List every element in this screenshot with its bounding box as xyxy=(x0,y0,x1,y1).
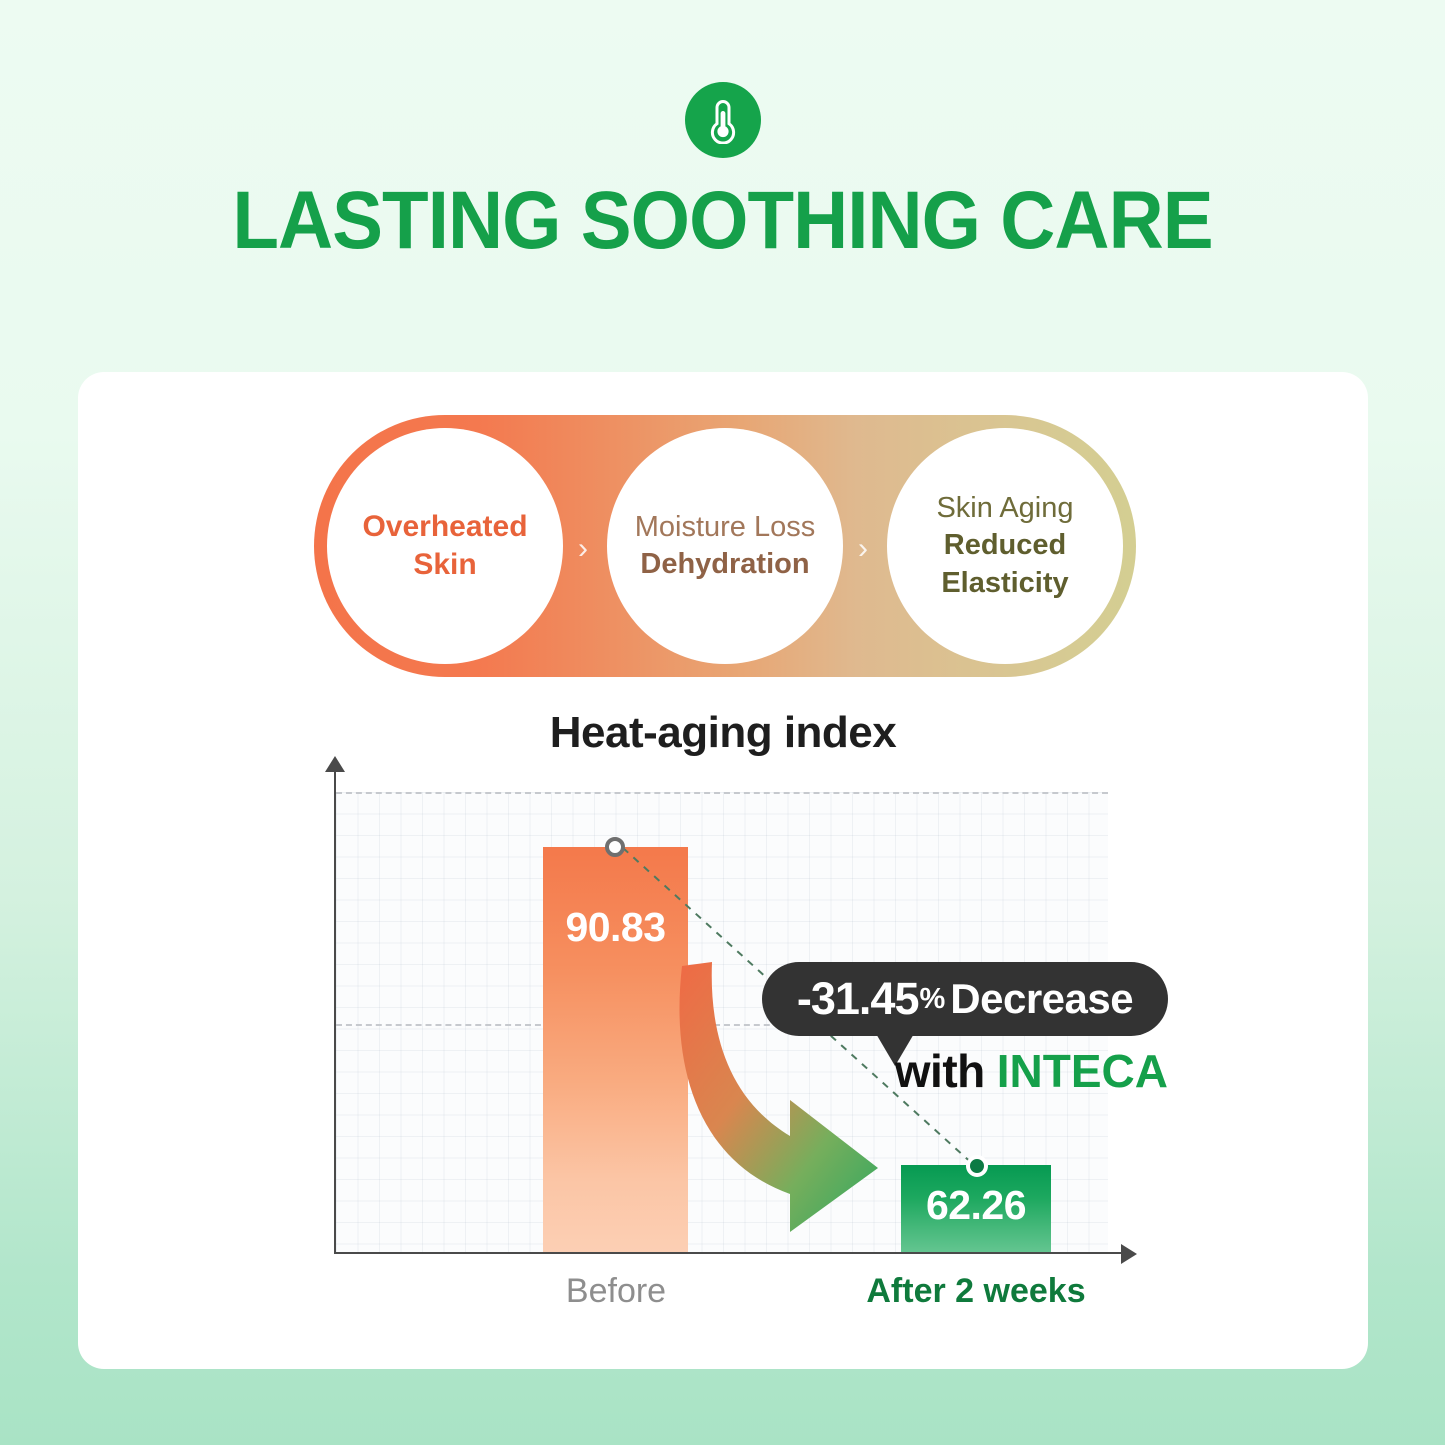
flow-diagram: Overheated Skin › Moisture Loss Dehydrat… xyxy=(314,415,1136,677)
with-label: with xyxy=(895,1045,985,1097)
header: LASTING SOOTHING CARE xyxy=(0,0,1445,262)
heat-aging-index-chart: 90.83 62.26 xyxy=(78,770,1368,1330)
chevron-right-icon-1: › xyxy=(572,534,594,568)
bar-value-after: 62.26 xyxy=(926,1182,1026,1252)
flow-step-overheated-skin: Overheated Skin xyxy=(327,428,563,664)
callout-percent-sign: % xyxy=(919,983,945,1016)
flow-step-3-line3: Elasticity xyxy=(936,565,1073,602)
decrease-callout-badge: -31.45 % Decrease xyxy=(762,962,1168,1036)
callout-value: -31.45 xyxy=(797,973,919,1025)
flow-step-skin-aging: Skin Aging Reduced Elasticity xyxy=(887,428,1123,664)
thermometer-icon xyxy=(685,82,761,158)
page-title: LASTING SOOTHING CARE xyxy=(51,180,1395,262)
brand-name: INTECA xyxy=(997,1045,1168,1097)
chart-title: Heat-aging index xyxy=(78,708,1368,758)
flow-step-3-line1: Skin Aging xyxy=(936,490,1073,527)
y-axis-arrow-icon xyxy=(325,756,345,772)
gridline-top xyxy=(336,792,1108,794)
flow-step-moisture-loss: Moisture Loss Dehydration xyxy=(607,428,843,664)
bar-value-before: 90.83 xyxy=(565,904,665,1252)
callout-word: Decrease xyxy=(950,975,1133,1023)
y-axis xyxy=(334,770,336,1254)
bar-before: 90.83 xyxy=(543,847,688,1252)
x-axis-arrow-icon xyxy=(1121,1244,1137,1264)
data-point-before xyxy=(605,837,625,857)
data-point-after xyxy=(966,1155,988,1177)
flow-step-2-line2: Dehydration xyxy=(635,546,816,583)
content-card: Overheated Skin › Moisture Loss Dehydrat… xyxy=(78,372,1368,1369)
chevron-right-icon-2: › xyxy=(852,534,874,568)
x-label-before: Before xyxy=(496,1272,736,1311)
infographic-page: LASTING SOOTHING CARE Overheated Skin › … xyxy=(0,0,1445,1445)
flow-step-1-line1: Overheated xyxy=(362,508,527,546)
flow-step-1-line2: Skin xyxy=(362,546,527,584)
x-axis xyxy=(334,1252,1124,1254)
flow-step-2-line1: Moisture Loss xyxy=(635,509,816,546)
brand-note: withINTECA xyxy=(762,1044,1168,1098)
x-label-after: After 2 weeks xyxy=(838,1272,1114,1311)
bar-after-2-weeks: 62.26 xyxy=(901,1165,1051,1252)
flow-step-3-line2: Reduced xyxy=(936,527,1073,564)
